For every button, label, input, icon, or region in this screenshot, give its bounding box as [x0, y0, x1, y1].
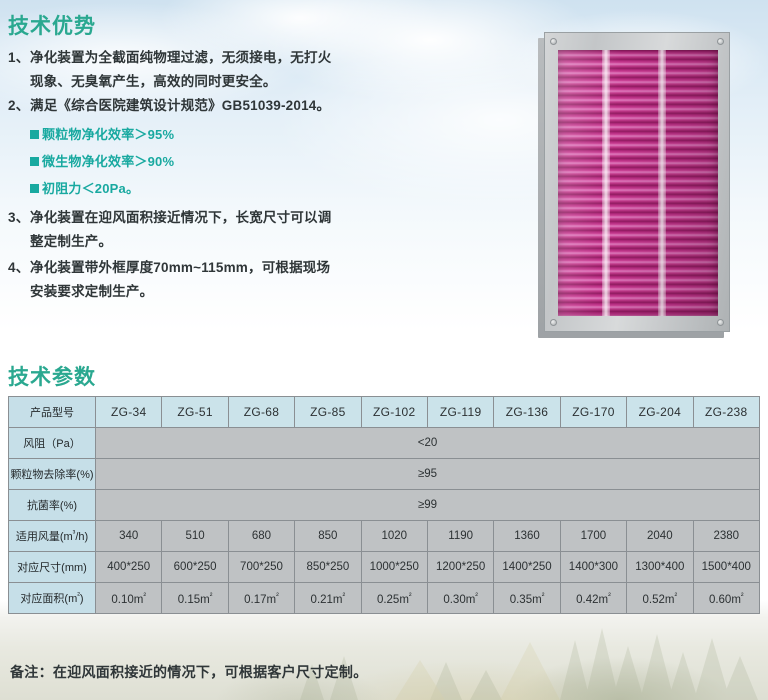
specification-table: 产品型号ZG-34ZG-51ZG-68ZG-85ZG-102ZG-119ZG-1… — [8, 396, 760, 614]
square-bullet-icon — [30, 184, 39, 193]
advantage-text-4-line2: 安装要求定制生产。 — [30, 280, 513, 304]
model-header-cell: ZG-238 — [693, 397, 759, 428]
advantage-item-2: 2、满足《综合医院建筑设计规范》GB51039-2014。 — [8, 94, 513, 118]
model-header-cell: ZG-85 — [295, 397, 361, 428]
data-cell: 1400*250 — [494, 552, 560, 583]
data-cell: 1190 — [427, 521, 493, 552]
table-header-row: 产品型号ZG-34ZG-51ZG-68ZG-85ZG-102ZG-119ZG-1… — [9, 397, 760, 428]
data-cell: 0.30m² — [427, 583, 493, 614]
screw-icon — [717, 38, 724, 45]
data-cell: 1360 — [494, 521, 560, 552]
data-cell: 0.35m² — [494, 583, 560, 614]
advantage-number-2: 2、 — [8, 94, 30, 118]
model-header-cell: ZG-34 — [96, 397, 162, 428]
data-cell: 2380 — [693, 521, 759, 552]
advantage-item-4: 4、净化装置带外框厚度70mm~115mm，可根据现场 安装要求定制生产。 — [8, 256, 513, 304]
row-label-cell: 风阻（Pa） — [9, 428, 96, 459]
advantage-text-4-line1: 净化装置带外框厚度70mm~115mm，可根据现场 — [30, 260, 330, 275]
media-gloss — [558, 50, 718, 316]
data-cell: 1500*400 — [693, 552, 759, 583]
merged-value-cell: ≥95 — [96, 459, 760, 490]
data-cell: 850 — [295, 521, 361, 552]
data-cell: 600*250 — [162, 552, 228, 583]
square-bullet-icon — [30, 130, 39, 139]
advantage-item-3: 3、净化装置在迎风面积接近情况下，长宽尺寸可以调 整定制生产。 — [8, 206, 513, 254]
data-cell: 510 — [162, 521, 228, 552]
table-row: 对应尺寸(mm)400*250600*250700*250850*2501000… — [9, 552, 760, 583]
data-cell: 340 — [96, 521, 162, 552]
screw-icon — [550, 319, 557, 326]
advantage-number-3: 3、 — [8, 206, 30, 230]
data-cell: 850*250 — [295, 552, 361, 583]
model-header-cell: ZG-136 — [494, 397, 560, 428]
row-label-cell: 抗菌率(%) — [9, 490, 96, 521]
data-cell: 1000*250 — [361, 552, 427, 583]
advantage-text-1-line1: 净化装置为全截面纯物理过滤，无须接电，无打火 — [30, 50, 331, 65]
sub-item-resistance: 初阻力＜20Pa。 — [30, 178, 139, 197]
sub-item-particulate: 颗粒物净化效率＞95% — [30, 124, 174, 143]
sub-item-label-3: 初阻力＜20Pa。 — [42, 181, 139, 196]
data-cell: 0.15m² — [162, 583, 228, 614]
square-bullet-icon — [30, 157, 39, 166]
parameters-title: 技术参数 — [8, 361, 96, 391]
data-cell: 0.60m² — [693, 583, 759, 614]
data-cell: 1020 — [361, 521, 427, 552]
advantage-text-1-line2: 现象、无臭氧产生，高效的同时更安全。 — [30, 70, 513, 94]
table-row: 适用风量(m³/h)340510680850102011901360170020… — [9, 521, 760, 552]
data-cell: 0.42m² — [560, 583, 626, 614]
table-row: 对应面积(m²)0.10m²0.15m²0.17m²0.21m²0.25m²0.… — [9, 583, 760, 614]
data-cell: 700*250 — [228, 552, 294, 583]
sub-item-label-1: 颗粒物净化效率＞95% — [42, 127, 174, 142]
sub-item-label-2: 微生物净化效率＞90% — [42, 154, 174, 169]
screw-icon — [717, 319, 724, 326]
advantage-text-2-line1: 满足《综合医院建筑设计规范》GB51039-2014。 — [30, 98, 330, 113]
data-cell: 400*250 — [96, 552, 162, 583]
data-cell: 2040 — [627, 521, 693, 552]
filter-media — [558, 50, 718, 316]
product-photo — [544, 32, 730, 332]
data-cell: 1400*300 — [560, 552, 626, 583]
forest-silhouette — [0, 612, 768, 700]
data-cell: 0.25m² — [361, 583, 427, 614]
data-cell: 0.52m² — [627, 583, 693, 614]
row-label-cell: 对应尺寸(mm) — [9, 552, 96, 583]
data-cell: 0.10m² — [96, 583, 162, 614]
model-header-cell: ZG-119 — [427, 397, 493, 428]
screw-icon — [550, 38, 557, 45]
advantage-text-3-line1: 净化装置在迎风面积接近情况下，长宽尺寸可以调 — [30, 210, 331, 225]
model-header-cell: ZG-204 — [627, 397, 693, 428]
sub-item-microbial: 微生物净化效率＞90% — [30, 151, 174, 170]
advantage-number-4: 4、 — [8, 256, 30, 280]
data-cell: 1700 — [560, 521, 626, 552]
data-cell: 1300*400 — [627, 552, 693, 583]
model-header-cell: ZG-51 — [162, 397, 228, 428]
table-row: 抗菌率(%)≥99 — [9, 490, 760, 521]
merged-value-cell: <20 — [96, 428, 760, 459]
model-header-cell: ZG-68 — [228, 397, 294, 428]
data-cell: 0.17m² — [228, 583, 294, 614]
table-row: 风阻（Pa）<20 — [9, 428, 760, 459]
data-cell: 0.21m² — [295, 583, 361, 614]
advantage-item-1: 1、净化装置为全截面纯物理过滤，无须接电，无打火 现象、无臭氧产生，高效的同时更… — [8, 46, 513, 94]
row-label-cell: 对应面积(m²) — [9, 583, 96, 614]
advantage-text-3-line2: 整定制生产。 — [30, 230, 513, 254]
table-note: 备注：在迎风面积接近的情况下，可根据客户尺寸定制。 — [10, 662, 368, 682]
row-label-cell: 颗粒物去除率(%) — [9, 459, 96, 490]
advantages-title: 技术优势 — [8, 10, 96, 40]
model-header-cell: ZG-102 — [361, 397, 427, 428]
data-cell: 680 — [228, 521, 294, 552]
row-label-cell: 适用风量(m³/h) — [9, 521, 96, 552]
data-cell: 1200*250 — [427, 552, 493, 583]
table-row: 颗粒物去除率(%)≥95 — [9, 459, 760, 490]
model-header-cell: ZG-170 — [560, 397, 626, 428]
filter-frame — [544, 32, 730, 332]
merged-value-cell: ≥99 — [96, 490, 760, 521]
table-header-label: 产品型号 — [9, 397, 96, 428]
advantage-number-1: 1、 — [8, 46, 30, 70]
